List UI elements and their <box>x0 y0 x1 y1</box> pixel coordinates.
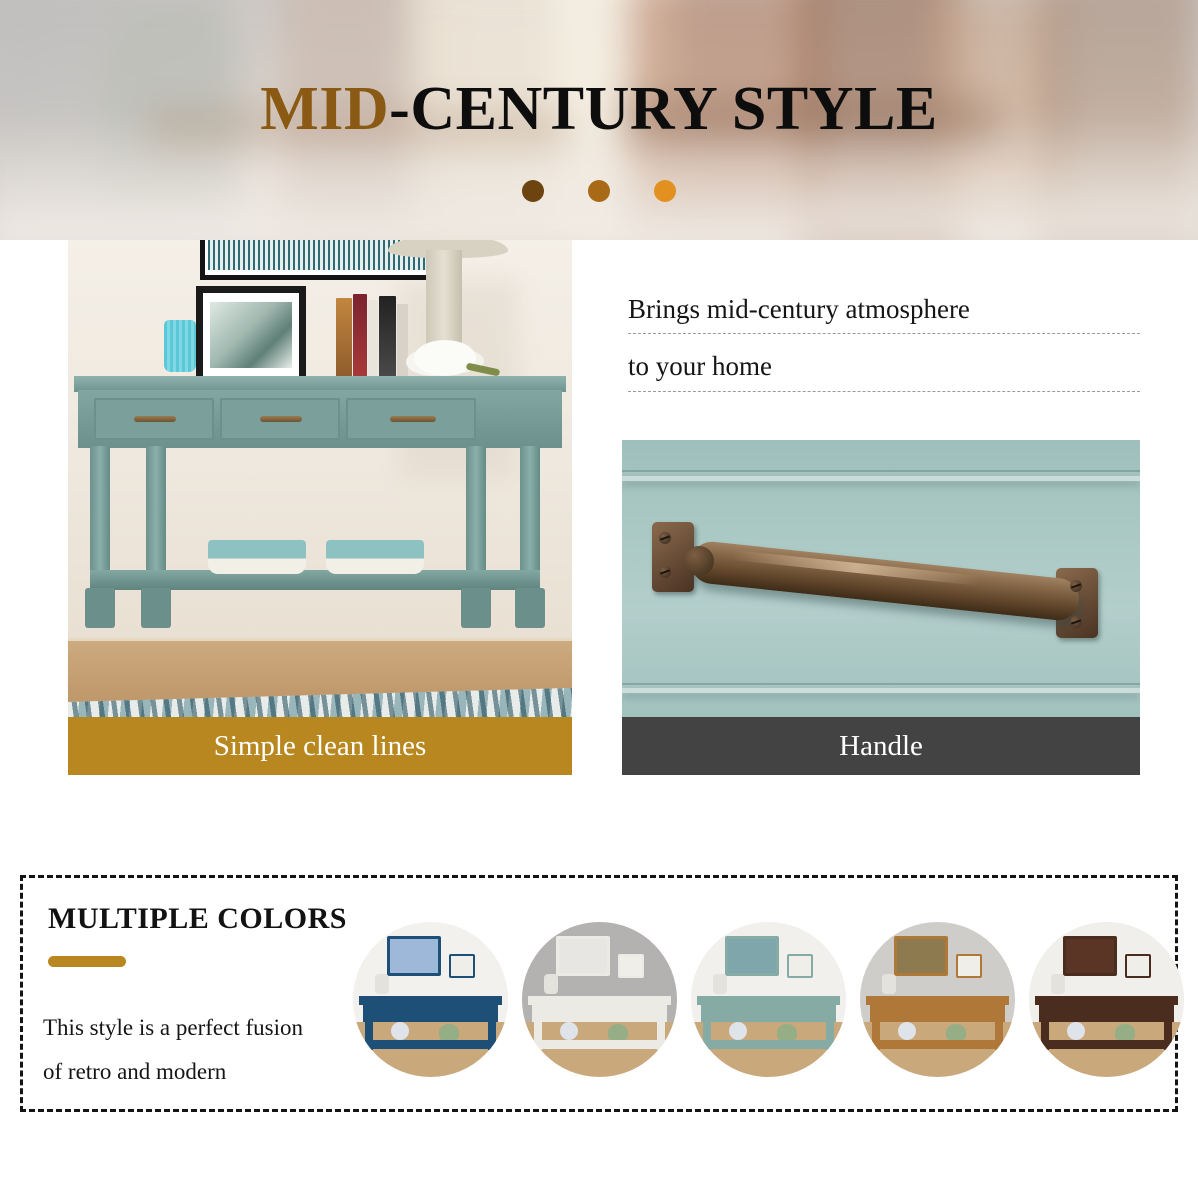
page-title-black: -CENTURY STYLE <box>389 75 938 143</box>
swatch-floor <box>1029 1022 1184 1077</box>
swatch-table-apron <box>532 1004 667 1022</box>
room-scene-photo <box>68 240 572 775</box>
swatch-decor-object <box>544 974 558 994</box>
swatch-floor <box>860 1022 1015 1077</box>
swatch-small-frame <box>787 954 813 978</box>
swatch-small-frame <box>618 954 644 978</box>
swatch-wall-art <box>725 936 779 976</box>
drawer-handle-icon <box>260 416 302 422</box>
swatch-shelf-plant <box>439 1024 459 1040</box>
swatch-table-shelf <box>874 1040 1001 1049</box>
swatch-table-shelf <box>536 1040 663 1049</box>
swatch-white[interactable] <box>522 922 677 1077</box>
body-line-2: of retro and modern <box>43 1050 373 1094</box>
swatch-decor-object <box>375 974 389 994</box>
swatch-table-apron <box>870 1004 1005 1022</box>
swatch-shelf-object <box>391 1022 409 1040</box>
swatch-shelf-plant <box>777 1024 797 1040</box>
swatch-light-oak[interactable] <box>860 922 1015 1077</box>
tagline-line-1: Brings mid-century atmosphere <box>628 295 1140 333</box>
swatch-small-frame <box>449 954 475 978</box>
page-title-brown: MID <box>260 75 389 143</box>
swatch-table-shelf <box>705 1040 832 1049</box>
tagline-block: Brings mid-century atmosphere to your ho… <box>628 295 1140 410</box>
body-line-1: This style is a perfect fusion <box>43 1006 373 1050</box>
swatch-table-apron <box>701 1004 836 1022</box>
decorative-dots <box>0 180 1198 202</box>
swatch-decor-object <box>713 974 727 994</box>
swatch-decor-object <box>882 974 896 994</box>
swatch-navy-blue[interactable] <box>353 922 508 1077</box>
caption-handle: Handle <box>622 717 1140 775</box>
swatch-table-apron <box>1039 1004 1174 1022</box>
multiple-colors-body: This style is a perfect fusion of retro … <box>43 1006 373 1093</box>
swatch-wall-art <box>1063 936 1117 976</box>
book-stack <box>336 294 408 378</box>
teal-vase <box>164 320 196 372</box>
swatch-wall-art <box>387 936 441 976</box>
swatch-table-shelf <box>367 1040 494 1049</box>
swatch-floor <box>353 1022 508 1077</box>
swatch-shelf-plant <box>608 1024 628 1040</box>
handle-bar <box>689 540 1081 623</box>
swatch-small-frame <box>1125 954 1151 978</box>
dot-dark-brown <box>522 180 544 202</box>
drawer-handle-icon <box>134 416 176 422</box>
swatch-wall-art <box>556 936 610 976</box>
tagline-divider <box>628 333 1140 334</box>
multiple-colors-section: MULTIPLE COLORS This style is a perfect … <box>20 875 1178 1112</box>
swatch-shelf-object <box>1067 1022 1085 1040</box>
swatch-shelf-plant <box>1115 1024 1135 1040</box>
dot-medium-brown <box>588 180 610 202</box>
screw-icon <box>1070 616 1082 628</box>
swatch-shelf-object <box>729 1022 747 1040</box>
swatch-wall-art <box>894 936 948 976</box>
swatch-small-frame <box>956 954 982 978</box>
swatch-shelf-plant <box>946 1024 966 1040</box>
dot-orange <box>654 180 676 202</box>
screw-icon <box>659 566 671 578</box>
caption-simple-clean-lines: Simple clean lines <box>68 717 572 775</box>
swatch-floor <box>691 1022 846 1077</box>
screw-icon <box>659 532 671 544</box>
page-title: MID-CENTURY STYLE <box>0 78 1198 140</box>
swatch-shelf-object <box>898 1022 916 1040</box>
table-lower-shelf <box>90 570 540 590</box>
tagline-divider <box>628 391 1140 392</box>
gold-divider <box>48 956 126 967</box>
swatch-decor-object <box>1051 974 1065 994</box>
color-swatch-gallery <box>353 918 1173 1080</box>
swatch-teal[interactable] <box>691 922 846 1077</box>
bronze-handle <box>622 440 1140 725</box>
multiple-colors-heading: MULTIPLE COLORS <box>48 902 347 936</box>
storage-basket <box>326 540 424 574</box>
tagline-line-2: to your home <box>628 352 1140 390</box>
storage-basket <box>208 540 306 574</box>
swatch-floor <box>522 1022 677 1077</box>
header-banner: MID-CENTURY STYLE <box>0 0 1198 240</box>
swatch-shelf-object <box>560 1022 578 1040</box>
screw-icon <box>1070 580 1082 592</box>
swatch-table-apron <box>363 1004 498 1022</box>
white-flowers <box>414 340 476 376</box>
swatch-espresso[interactable] <box>1029 922 1184 1077</box>
drawer-handle-icon <box>390 416 436 422</box>
swatch-table-shelf <box>1043 1040 1170 1049</box>
